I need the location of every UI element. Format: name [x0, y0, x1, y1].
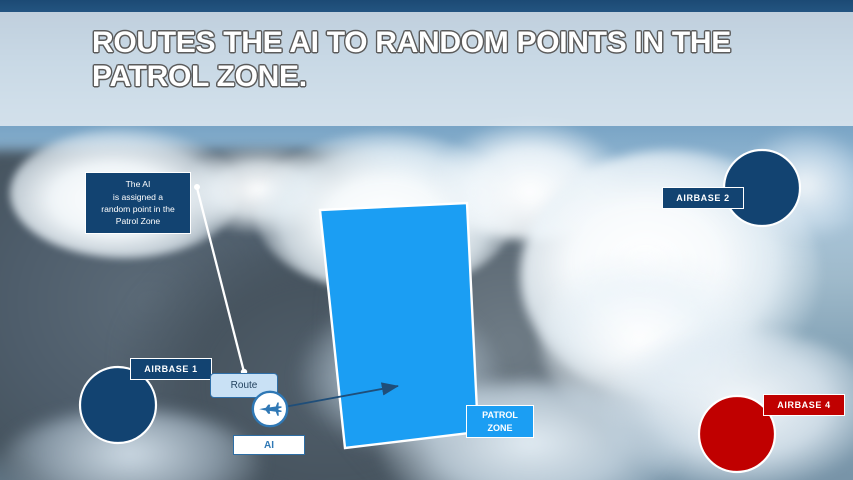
connector-endpoint-top: [194, 184, 200, 190]
airbase-1-label[interactable]: AIRBASE 1: [130, 358, 212, 380]
ai-label[interactable]: AI: [233, 435, 305, 455]
airbase-2-text: AIRBASE 2: [676, 193, 729, 203]
airbase-4-label[interactable]: AIRBASE 4: [763, 394, 845, 416]
patrol-zone-label[interactable]: PATROL ZONE: [466, 405, 534, 438]
callout-box: The AI is assigned a random point in the…: [85, 172, 191, 234]
callout-connector-line: [197, 188, 244, 372]
patrol-zone-shape[interactable]: [320, 203, 478, 448]
ai-label-text: AI: [264, 440, 274, 451]
callout-text: The AI is assigned a random point in the…: [101, 178, 175, 228]
patrol-zone-text: PATROL ZONE: [482, 409, 518, 433]
diagram-vector-layer: [0, 0, 853, 480]
airbase-4-text: AIRBASE 4: [777, 400, 830, 410]
airbase-2-label[interactable]: AIRBASE 2: [662, 187, 744, 209]
airbase-1-text: AIRBASE 1: [144, 364, 197, 374]
slide-canvas: ROUTES THE AI TO RANDOM POINTS IN THE PA…: [0, 0, 853, 480]
fighter-jet-icon[interactable]: [251, 390, 289, 428]
